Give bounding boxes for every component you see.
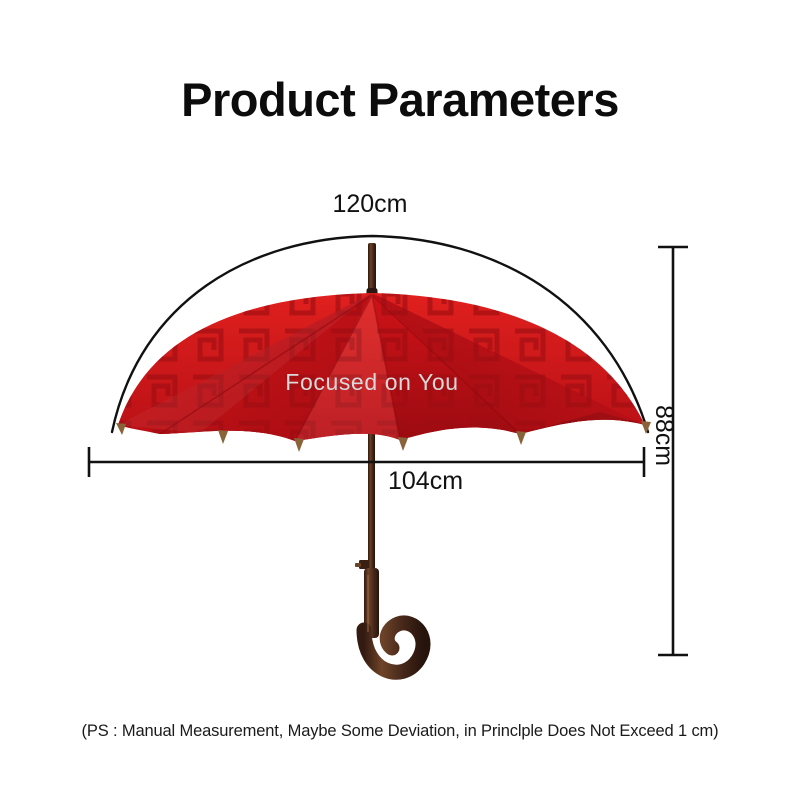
measurement-disclaimer: (PS : Manual Measurement, Maybe Some Dev…	[0, 722, 800, 741]
product-parameters-page: Product Parameters	[0, 0, 800, 800]
width-dimension-label: 104cm	[388, 467, 463, 496]
umbrella-handle	[364, 568, 423, 672]
arc-dimension-label: 120cm	[0, 190, 740, 219]
horizontal-dimension-line	[88, 447, 645, 477]
umbrella-diagram: Focused on You	[0, 0, 800, 800]
height-dimension-label: 88cm	[649, 405, 678, 466]
umbrella-finial	[367, 243, 378, 298]
umbrella-runner-catch	[355, 560, 369, 569]
canopy-brand-text: Focused on You	[285, 369, 458, 395]
umbrella-canopy: Focused on You	[100, 280, 660, 470]
